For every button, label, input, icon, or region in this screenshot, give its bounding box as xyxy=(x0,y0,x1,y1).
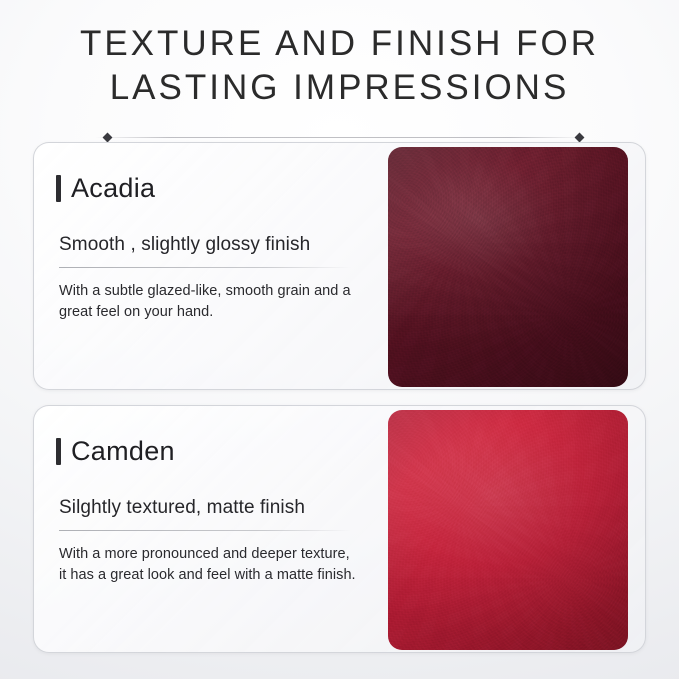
card-camden-rule xyxy=(59,530,351,531)
header-divider xyxy=(95,137,585,138)
acadia-leather-swatch xyxy=(388,147,628,387)
card-acadia-text: Acadia Smooth , slightly glossy finish W… xyxy=(56,173,386,323)
card-acadia: Acadia Smooth , slightly glossy finish W… xyxy=(33,142,646,390)
page-title-line-2: LASTING IMPRESSIONS xyxy=(0,66,679,110)
card-acadia-body: With a subtle glazed-like, smooth grain … xyxy=(59,281,359,323)
card-camden: Camden Silghtly textured, matte finish W… xyxy=(33,405,646,653)
card-acadia-title-row: Acadia xyxy=(56,173,386,204)
divider-diamond-right-icon xyxy=(575,133,585,143)
camden-leather-swatch xyxy=(388,410,628,650)
camden-swatch-sheen xyxy=(388,410,628,650)
card-camden-text: Camden Silghtly textured, matte finish W… xyxy=(56,436,386,586)
page-title-line-1: TEXTURE AND FINISH FOR xyxy=(0,22,679,66)
card-camden-title-row: Camden xyxy=(56,436,386,467)
title-accent-bar xyxy=(56,438,61,465)
title-accent-bar xyxy=(56,175,61,202)
card-camden-body: With a more pronounced and deeper textur… xyxy=(59,544,359,586)
card-acadia-title: Acadia xyxy=(71,173,155,204)
card-acadia-subtitle: Smooth , slightly glossy finish xyxy=(59,234,386,256)
divider-diamond-left-icon xyxy=(103,133,113,143)
card-camden-subtitle: Silghtly textured, matte finish xyxy=(59,497,386,519)
card-acadia-rule xyxy=(59,267,351,268)
infographic-page: TEXTURE AND FINISH FOR LASTING IMPRESSIO… xyxy=(0,0,679,679)
card-camden-title: Camden xyxy=(71,436,175,467)
page-title: TEXTURE AND FINISH FOR LASTING IMPRESSIO… xyxy=(0,22,679,110)
acadia-swatch-sheen xyxy=(388,147,628,387)
